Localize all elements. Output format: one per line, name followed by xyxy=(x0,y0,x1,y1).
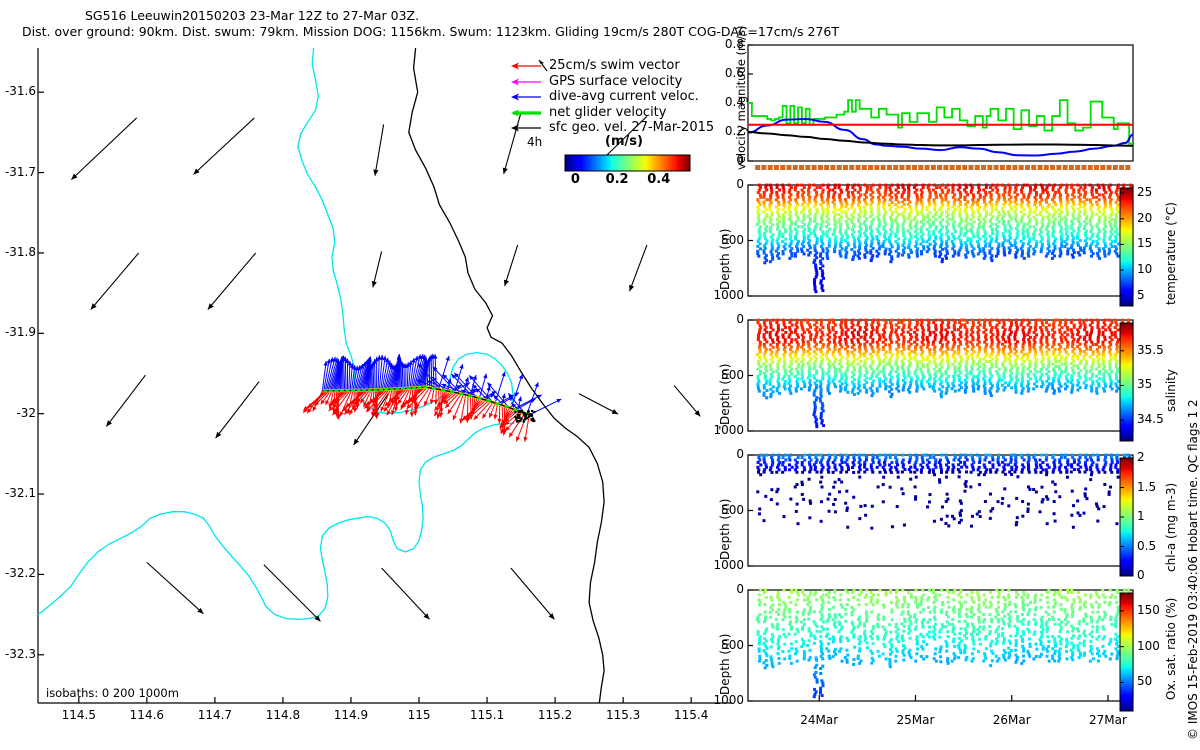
salinity-colorbar-label: salinity xyxy=(1164,369,1178,412)
salinity-ylabel-prefix: " xyxy=(716,424,722,438)
colorbar-title: (m/s) xyxy=(605,134,643,149)
page-title-line1: SG516 Leeuwin20150203 23-Mar 12Z to 27-M… xyxy=(85,8,419,23)
velocity-ylabel: velocity magnitude (m/s) xyxy=(734,25,748,170)
page-title-line2: Dist. over ground: 90km. Dist. swum: 79k… xyxy=(22,24,839,39)
legend-label: dive-avg current veloc. xyxy=(549,89,699,104)
chlorophyll-ylabel: Depth (m) xyxy=(718,499,732,560)
chlorophyll-colorbar xyxy=(1120,458,1133,576)
map-colorbar xyxy=(565,155,690,171)
temperature-colorbar-label: temperature (°C) xyxy=(1164,202,1178,305)
isobath-note: isobaths: 0 200 1000m xyxy=(46,686,179,700)
velocity-yticks: 00.20.40.60.8 xyxy=(748,43,808,173)
scale-label: 4h xyxy=(527,135,542,149)
oxygen-ylabel: Depth (m) xyxy=(718,634,732,695)
legend-label: GPS surface velocity xyxy=(549,74,682,89)
oxygen-colorbar-label: Ox. sat. ratio (%) xyxy=(1164,598,1178,700)
salinity-ylabel: Depth (m) xyxy=(718,364,732,425)
copyright-text: © IMOS 15-Feb-2019 03:40:06 Hobart time.… xyxy=(1186,399,1200,740)
legend-label: net glider velocity xyxy=(549,105,666,120)
temperature-yticks: 05001000 xyxy=(748,183,808,305)
chlorophyll-yticks: 05001000 xyxy=(748,453,808,575)
legend-label: 25cm/s swim vector xyxy=(549,58,680,73)
oxygen-yticks: 05001000 xyxy=(748,588,808,710)
swim-vector-sample-arrow xyxy=(531,56,551,74)
salinity-yticks: 05001000 xyxy=(748,318,808,440)
salinity-colorbar xyxy=(1120,323,1133,441)
chlorophyll-colorbar-label: chl-a (mg m-3) xyxy=(1164,483,1178,572)
oxygen-colorbar xyxy=(1120,593,1133,711)
legend-label: sfc geo. vel. 27-Mar-2015 xyxy=(549,120,714,135)
temperature-ylabel: Depth (m) xyxy=(718,229,732,290)
temperature-colorbar xyxy=(1120,188,1133,306)
